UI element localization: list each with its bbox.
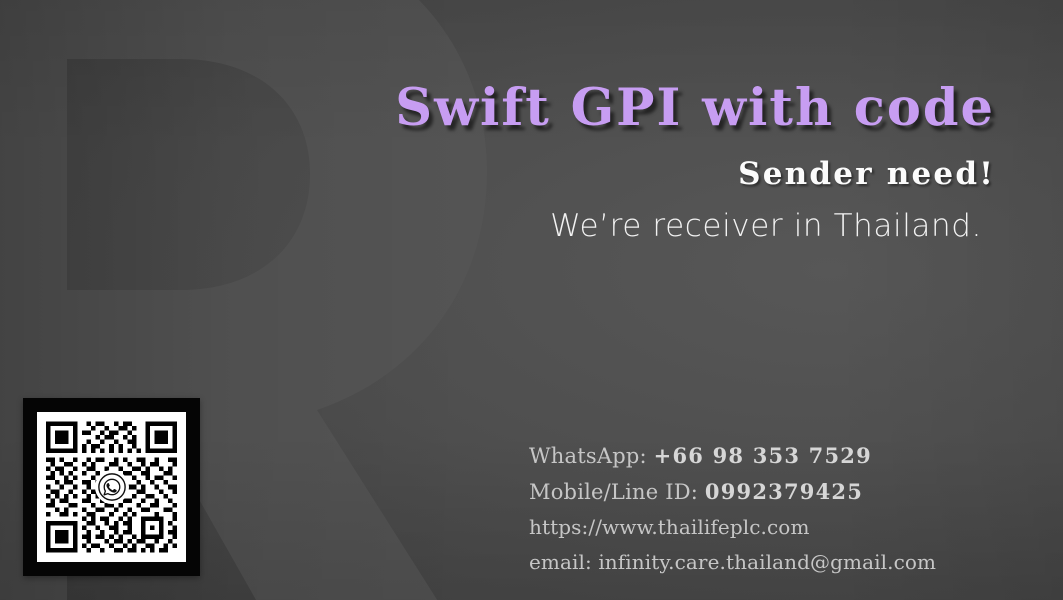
contact-block: WhatsApp: +66 98 353 7529 Mobile/Line ID… bbox=[529, 438, 999, 580]
headline-block: Swift GPI with code Sender need! We’re r… bbox=[0, 0, 1063, 244]
contact-mobile-label: Mobile/Line ID: bbox=[529, 480, 698, 504]
business-card: Swift GPI with code Sender need! We’re r… bbox=[0, 0, 1063, 600]
contact-website[interactable]: https://www.thailifeplc.com bbox=[529, 510, 999, 545]
contact-whatsapp-value[interactable]: +66 98 353 7529 bbox=[654, 443, 872, 468]
contact-mobile: Mobile/Line ID: 0992379425 bbox=[529, 474, 999, 510]
headline-subtitle: Sender need! bbox=[0, 134, 995, 192]
qr-code-frame[interactable] bbox=[23, 398, 200, 576]
contact-whatsapp: WhatsApp: +66 98 353 7529 bbox=[529, 438, 999, 474]
contact-email[interactable]: email: infinity.care.thailand@gmail.com bbox=[529, 545, 999, 580]
contact-whatsapp-label: WhatsApp: bbox=[529, 444, 647, 468]
contact-mobile-value[interactable]: 0992379425 bbox=[705, 479, 863, 504]
qr-code-image[interactable] bbox=[37, 412, 186, 562]
headline-tagline: We’re receiver in Thailand. bbox=[0, 192, 995, 244]
page-title: Swift GPI with code bbox=[0, 0, 995, 134]
whatsapp-icon bbox=[95, 470, 129, 504]
